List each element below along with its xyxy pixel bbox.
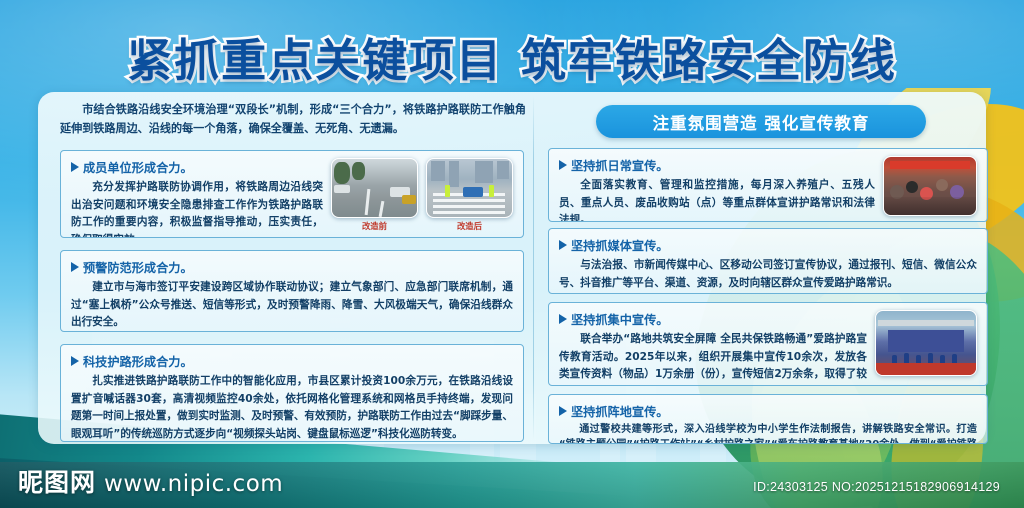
card-heading-text: 坚持抓阵地宣传。 (571, 402, 669, 420)
card-early-warning: 预警防范形成合力。 建立市与海市签订平安建设跨区域协作联动协议；建立气象部门、应… (60, 250, 524, 332)
card-body-early-warning: 建立市与海市签订平安建设跨区域协作联动协议；建立气象部门、应急部门联席机制，通过… (71, 279, 513, 332)
card-heading-position-publicity: 坚持抓阵地宣传。 (559, 402, 977, 420)
card-heading-member-units: 成员单位形成合力。 (71, 158, 323, 176)
triangle-bullet-icon (559, 160, 567, 170)
stage-screen (888, 330, 964, 352)
watermark-brand: 昵图网 (18, 463, 96, 499)
card-heading-text: 成员单位形成合力。 (83, 158, 193, 176)
photo-pair-before-after: 改造前 改造后 (331, 158, 513, 231)
card-heading-media-publicity: 坚持抓媒体宣传。 (559, 236, 977, 254)
card-concentrated-publicity: 坚持抓集中宣传。 联合举办“路地共筑安全屏障 全民共保铁路畅通”爱路护路宣传教育… (548, 302, 988, 386)
card-position-publicity: 坚持抓阵地宣传。 通过警校共建等形式，深入沿线学校为中小学生作法制报告，讲解铁路… (548, 394, 988, 444)
card-heading-text: 预警防范形成合力。 (83, 258, 193, 276)
card-body-member-units: 充分发挥护路联防协调作用，将铁路周边沿线突出治安问题和环境安全隐患排查工作作为铁… (71, 179, 323, 238)
triangle-bullet-icon (559, 314, 567, 324)
poster-title: 紧抓重点关键项目 筑牢铁路安全防线 (0, 24, 1024, 89)
photo-daily-publicity (883, 156, 977, 216)
card-heading-text: 坚持抓日常宣传。 (571, 156, 669, 174)
photo-before (331, 158, 418, 218)
watermark-url: www.nipic.com (104, 471, 283, 497)
photo-concentrated-publicity (875, 310, 977, 376)
card-body-media-publicity: 与法治报、市新闻传媒中心、区移动公司签订宣传协议，通过报刊、短信、微信公众号、抖… (559, 257, 977, 292)
card-heading-text: 坚持抓媒体宣传。 (571, 236, 669, 254)
triangle-bullet-icon (71, 262, 79, 272)
triangle-bullet-icon (559, 406, 567, 416)
triangle-bullet-icon (71, 356, 79, 366)
card-heading-text: 科技护路形成合力。 (83, 352, 193, 370)
banner-strip (890, 161, 971, 169)
section-title-pill: 注重氛围营造 强化宣传教育 (596, 105, 926, 138)
card-heading-text: 坚持抓集中宣传。 (571, 310, 669, 328)
poster-canvas: 紧抓重点关键项目 筑牢铁路安全防线 市结合铁路沿线安全环境治理“双段长”机制，形… (0, 0, 1024, 508)
card-daily-publicity: 坚持抓日常宣传。 全面落实教育、管理和监控措施，每月深入养殖户、五残人员、重点人… (548, 148, 988, 222)
card-member-units: 成员单位形成合力。 充分发挥护路联防协调作用，将铁路周边沿线突出治安问题和环境安… (60, 150, 524, 238)
watermark: 昵图网 www.nipic.com (18, 463, 283, 499)
intro-paragraph: 市结合铁路沿线安全环境治理“双段长”机制，形成“三个合力”，将铁路护路联防工作触… (60, 100, 526, 138)
photo-after (426, 158, 513, 218)
triangle-bullet-icon (71, 162, 79, 172)
stage-banner (876, 363, 976, 375)
photo-caption-after: 改造后 (457, 220, 482, 232)
column-divider (533, 96, 534, 440)
card-heading-daily-publicity: 坚持抓日常宣传。 (559, 156, 875, 174)
card-technology: 科技护路形成合力。 扎实推进铁路护路联防工作中的智能化应用，市县区累计投资100… (60, 344, 524, 442)
card-media-publicity: 坚持抓媒体宣传。 与法治报、市新闻传媒中心、区移动公司签订宣传协议，通过报刊、短… (548, 228, 988, 294)
card-heading-concentrated-publicity: 坚持抓集中宣传。 (559, 310, 867, 328)
card-body-concentrated-publicity: 联合举办“路地共筑安全屏障 全民共保铁路畅通”爱路护路宣传教育活动。2025年以… (559, 331, 867, 386)
card-body-daily-publicity: 全面落实教育、管理和监控措施，每月深入养殖户、五残人员、重点人员、废品收购站（点… (559, 177, 875, 222)
card-body-position-publicity: 通过警校共建等形式，深入沿线学校为中小学生作法制报告，讲解铁路安全常识。打造“铁… (559, 423, 977, 444)
card-body-technology: 扎实推进铁路护路联防工作中的智能化应用，市县区累计投资100余万元，在铁路沿线设… (71, 373, 513, 442)
photo-caption-before: 改造前 (362, 220, 387, 232)
image-id-text: ID:24303125 NO:20251215182906914129 (753, 480, 1000, 494)
stage-roof (878, 320, 974, 326)
card-heading-technology: 科技护路形成合力。 (71, 352, 513, 370)
card-heading-early-warning: 预警防范形成合力。 (71, 258, 513, 276)
triangle-bullet-icon (559, 240, 567, 250)
